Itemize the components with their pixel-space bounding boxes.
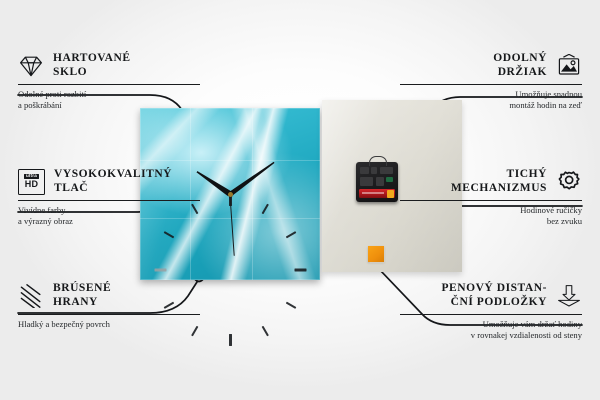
movement-contact	[386, 177, 393, 182]
gear-icon	[556, 170, 582, 194]
arrow-down-to-pad-icon	[556, 284, 582, 308]
battery-positive-terminal	[387, 190, 394, 198]
feature-divider	[18, 314, 200, 315]
hour-tick-6	[229, 334, 232, 346]
ultra-hd-badge-main-label: HD	[25, 180, 38, 189]
feature-divider	[18, 200, 200, 201]
feature-title: HARTOVANÉ SKLO	[53, 52, 131, 79]
feature-title: ODOLNÝ DRŽIAK	[493, 52, 547, 79]
minute-hand	[229, 160, 276, 196]
hour-tick-5	[262, 326, 269, 337]
feature-ground-edges: BRÚSENÉ HRANY Hladký a bezpečný povrch	[18, 282, 200, 330]
hour-tick-10	[164, 231, 175, 238]
ultra-hd-badge-icon: ultra HD	[18, 169, 45, 195]
hour-tick-1	[262, 204, 269, 215]
hour-hand	[195, 169, 232, 196]
battery	[359, 189, 395, 198]
diagonal-lines-icon	[18, 284, 44, 308]
feature-description: Umožňuje vám držať hodiny v rovnakej vzd…	[400, 319, 582, 340]
feature-heading: TICHÝ MECHANIZMUS	[400, 168, 582, 195]
feature-heading: HARTOVANÉ SKLO	[18, 52, 200, 79]
second-hand	[229, 194, 235, 256]
feature-divider	[18, 84, 200, 85]
hour-tick-2	[286, 231, 297, 238]
movement-vent	[380, 167, 393, 174]
quartz-movement	[356, 162, 398, 202]
feature-durable-hanger: ODOLNÝ DRŽIAK Umožňuje snadnou montáž ho…	[400, 52, 582, 110]
feature-divider	[400, 314, 582, 315]
feature-tempered-glass: HARTOVANÉ SKLO Odolné proti rozbití a po…	[18, 52, 200, 110]
feature-description: Vivídne farby a výrazný obraz	[18, 205, 200, 226]
feature-heading: ultra HD VYSOKOKVALITNÝ TLAČ	[18, 168, 200, 195]
framed-picture-hanger-icon	[556, 54, 582, 78]
hour-tick-9	[154, 269, 166, 272]
feature-description: Odolné proti rozbití a poškrábání	[18, 89, 200, 110]
hanger-loop-icon	[369, 156, 387, 166]
feature-description: Hodinové ručičky bez zvuku	[400, 205, 582, 226]
feature-heading: ODOLNÝ DRŽIAK	[400, 52, 582, 79]
feature-description: Umožňuje snadnou montáž hodin na zeď	[400, 89, 582, 110]
feature-title: VYSOKOKVALITNÝ TLAČ	[54, 168, 172, 195]
movement-vent	[371, 167, 377, 174]
feature-divider	[400, 84, 582, 85]
feature-silent-mechanism: TICHÝ MECHANIZMUS Hodinové ručičky bez z…	[400, 168, 582, 226]
movement-vent	[376, 177, 384, 186]
movement-vent	[360, 177, 373, 186]
feature-title: TICHÝ MECHANIZMUS	[451, 168, 547, 195]
battery-label	[362, 192, 384, 194]
feature-title: PENOVÝ DISTAN- ČNÍ PODLOŽKY	[441, 282, 547, 309]
feature-foam-spacers: PENOVÝ DISTAN- ČNÍ PODLOŽKY Umožňuje vám…	[400, 282, 582, 340]
feature-description: Hladký a bezpečný povrch	[18, 319, 200, 330]
hand-center-cap	[228, 192, 233, 197]
feature-title: BRÚSENÉ HRANY	[53, 282, 111, 309]
feature-divider	[400, 200, 582, 201]
diamond-icon	[18, 54, 44, 78]
foam-spacer-pad	[368, 246, 384, 262]
hour-tick-3	[294, 269, 306, 272]
infographic-canvas: HARTOVANÉ SKLO Odolné proti rozbití a po…	[0, 0, 600, 400]
feature-high-quality-print: ultra HD VYSOKOKVALITNÝ TLAČ Vivídne far…	[18, 168, 200, 226]
feature-heading: PENOVÝ DISTAN- ČNÍ PODLOŽKY	[400, 282, 582, 309]
feature-heading: BRÚSENÉ HRANY	[18, 282, 200, 309]
movement-vent	[360, 167, 369, 174]
hour-tick-4	[286, 302, 297, 309]
